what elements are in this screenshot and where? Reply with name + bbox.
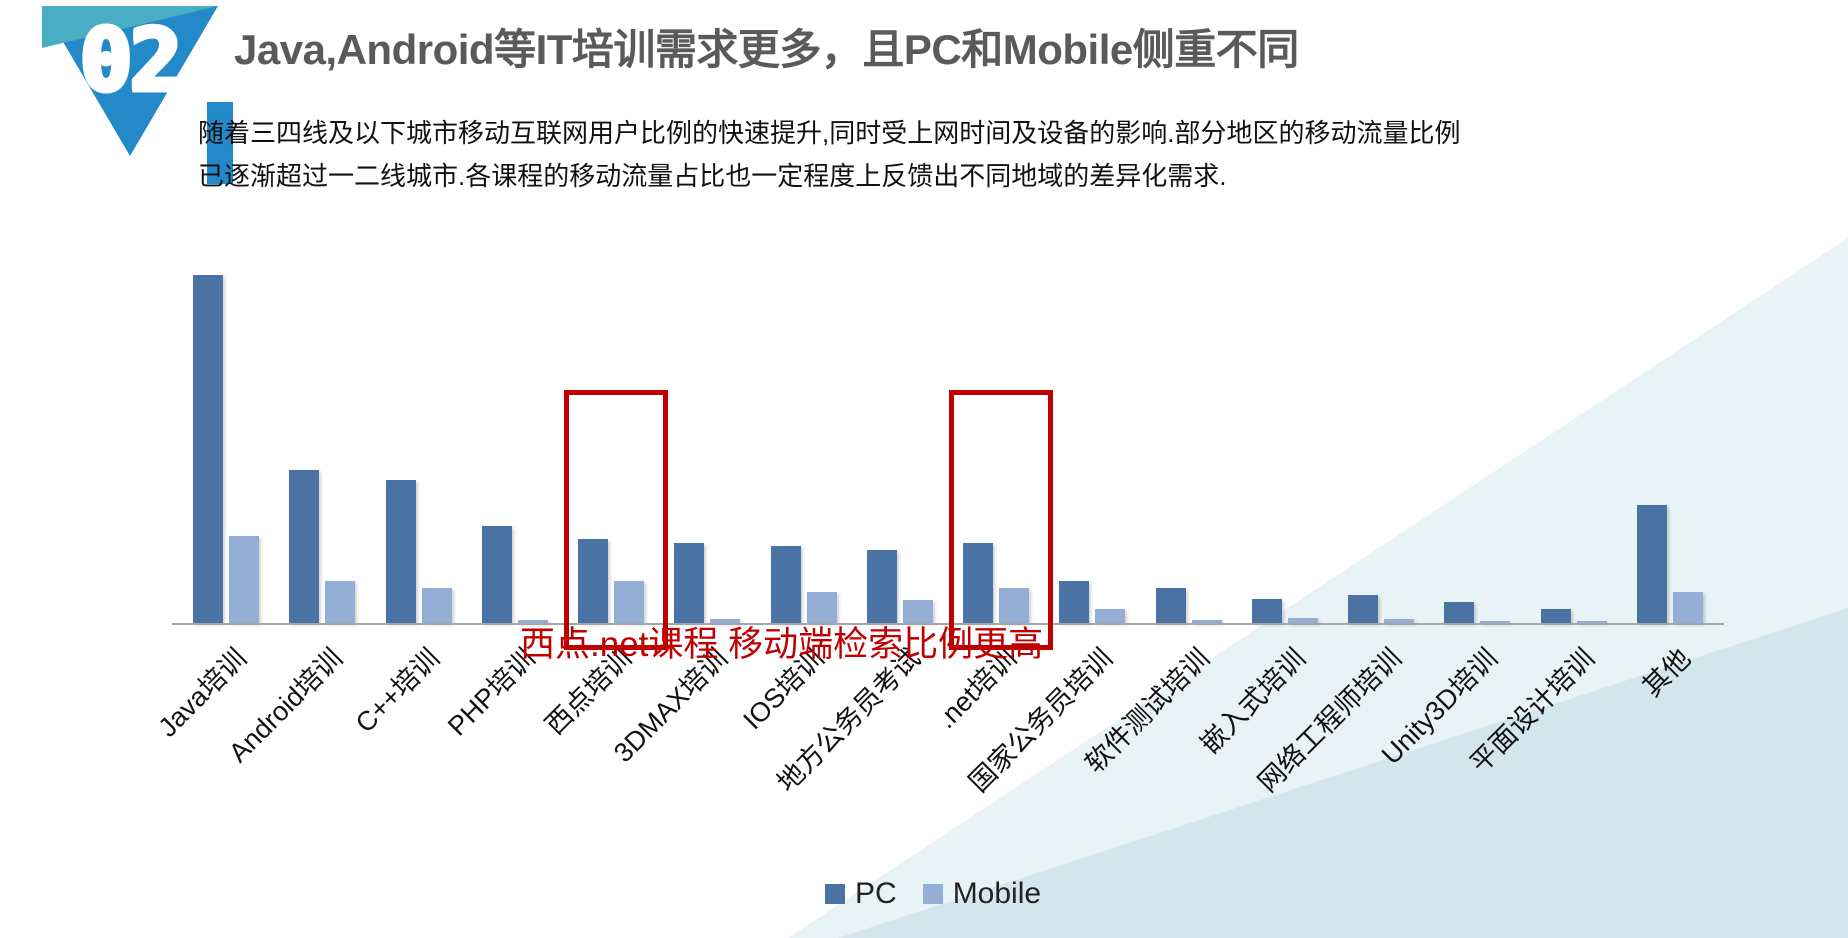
section-number-badge: 02 <box>42 6 218 178</box>
chart-legend: PC Mobile <box>825 877 1041 911</box>
legend-label-pc: PC <box>855 877 897 911</box>
bar-mobile <box>1095 609 1125 623</box>
page-title: Java,Android等IT培训需求更多，且PC和Mobile侧重不同 <box>234 16 1299 77</box>
bar-pc <box>867 550 897 623</box>
bar-pc <box>482 526 512 623</box>
bar-pc <box>674 543 704 623</box>
legend-item-mobile: Mobile <box>923 877 1041 911</box>
x-axis-label-text: 其他 <box>1632 638 1698 704</box>
bar-chart: Java培训Android培训C++培训PHP培训西点培训3DMAX培训IOS培… <box>0 250 1848 938</box>
bar-mobile <box>325 581 355 623</box>
bar-mobile <box>1673 592 1703 623</box>
bar-pc <box>386 480 416 623</box>
bar-pc <box>1541 609 1571 623</box>
highlight-box <box>564 390 668 650</box>
bar-pc <box>1252 599 1282 623</box>
bar-pc <box>193 275 223 623</box>
bar-pc <box>1156 588 1186 623</box>
bar-pc <box>1059 581 1089 623</box>
bar-pc <box>1444 602 1474 623</box>
paragraph-line-1: 随着三四线及以下城市移动互联网用户比例的快速提升,同时受上网时间及设备的影响.部… <box>198 112 1728 155</box>
bar-pc <box>771 546 801 623</box>
legend-swatch-pc-icon <box>825 884 845 904</box>
highlight-box <box>949 390 1053 650</box>
legend-item-pc: PC <box>825 877 897 911</box>
bar-pc <box>1348 595 1378 623</box>
body-paragraph: 随着三四线及以下城市移动互联网用户比例的快速提升,同时受上网时间及设备的影响.部… <box>198 112 1728 198</box>
bar-mobile <box>229 536 259 623</box>
bar-mobile <box>422 588 452 623</box>
chart-plot-area <box>178 275 1718 623</box>
slide-root: 02 Java,Android等IT培训需求更多，且PC和Mobile侧重不同 … <box>0 0 1848 938</box>
bar-pc <box>1637 505 1667 623</box>
badge-number: 02 <box>42 18 218 104</box>
bar-pc <box>289 470 319 623</box>
x-axis-label-text: C++培训 <box>344 638 446 740</box>
legend-label-mobile: Mobile <box>953 877 1041 911</box>
paragraph-line-2: 已逐渐超过一二线城市.各课程的移动流量占比也一定程度上反馈出不同地域的差异化需求… <box>198 155 1728 198</box>
chart-x-axis-labels: Java培训Android培训C++培训PHP培训西点培训3DMAX培训IOS培… <box>0 630 1848 890</box>
legend-swatch-mobile-icon <box>923 884 943 904</box>
